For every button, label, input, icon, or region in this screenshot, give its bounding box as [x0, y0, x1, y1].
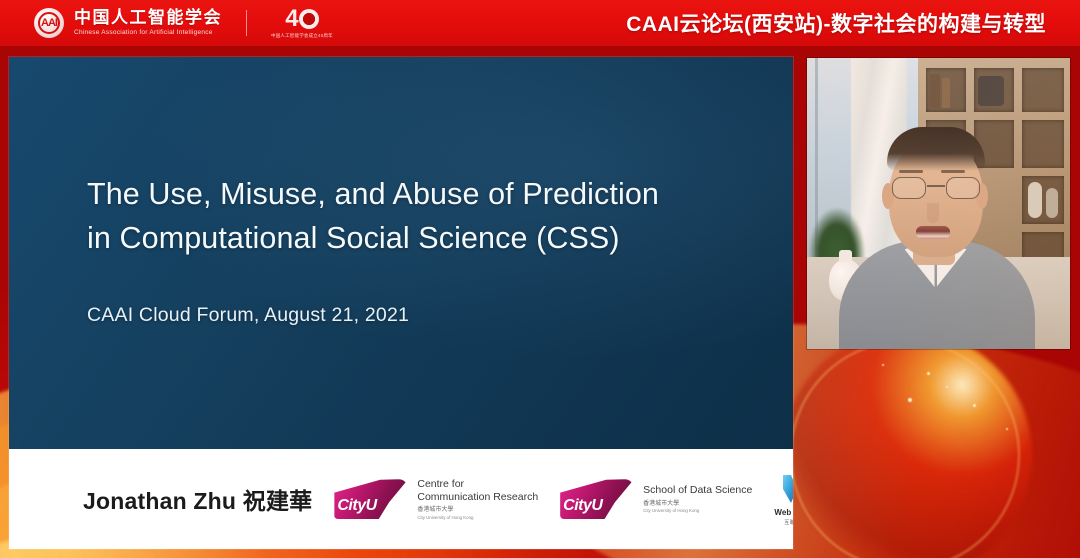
shelf-object	[978, 76, 1004, 106]
logo-text-block: School of Data Science 香港城市大學 City Unive…	[643, 484, 752, 513]
shelf-cell	[1022, 120, 1064, 168]
brand-divider	[246, 10, 247, 36]
speaker-hair	[887, 127, 985, 171]
sparkle-icon	[946, 386, 948, 388]
presenter-name: Jonathan Zhu 祝建華	[83, 482, 312, 516]
org-name-en: Chinese Association for Artificial Intel…	[74, 29, 222, 37]
caai-brand-lockup: AAI 中国人工智能学会 Chinese Association for Art…	[0, 7, 333, 39]
sparkle-icon	[908, 398, 912, 402]
vase	[1028, 182, 1042, 218]
eyeglass-bridge	[927, 185, 945, 187]
speaker-eyebrow-right	[941, 170, 965, 173]
vase	[1046, 188, 1058, 218]
speaker-nose	[927, 203, 939, 223]
logo-school-of-data-science: CityU School of Data Science 香港城市大學 City…	[560, 479, 752, 519]
eyeglass-lens-left	[892, 177, 926, 199]
logo-name-cn-en: City University of Hong Kong	[643, 508, 752, 514]
logo-centre-for-communication-research: CityU Centre for Communication Research …	[334, 478, 538, 521]
logo-name-line-2: Communication Research	[417, 491, 538, 504]
eyeglass-lens-right	[946, 177, 980, 199]
sparkle-icon	[882, 364, 884, 366]
anniversary-number: 4	[285, 7, 318, 31]
caai-logo-initials: AAI	[41, 17, 57, 29]
orb-ring	[790, 340, 1020, 558]
forum-title: CAAI云论坛(西安站)-数字社会的构建与转型	[626, 8, 1080, 38]
book	[930, 74, 940, 108]
slide-title-line-2: in Computational Social Science (CSS)	[87, 217, 687, 260]
logo-text-block: Centre for Communication Research 香港城市大學…	[417, 478, 538, 521]
shelf-cell	[1022, 68, 1064, 112]
logo-web-mining-lab: Web Mining Lab 互聯網挖掘實驗室	[774, 472, 793, 526]
slide-title-line-1: The Use, Misuse, and Abuse of Prediction	[87, 173, 687, 216]
slide-subtitle: CAAI Cloud Forum, August 21, 2021	[87, 304, 793, 327]
video-room-background	[807, 58, 1070, 349]
speaker-video-panel[interactable]	[807, 58, 1070, 349]
org-name-cn: 中国人工智能学会	[74, 9, 222, 28]
logo-name-line-1: Centre for	[417, 478, 538, 491]
slide-footer: Jonathan Zhu 祝建華 CityU Centre for Commun…	[9, 449, 793, 549]
logo-name-cn: 香港城市大學	[643, 501, 752, 509]
broadcast-header-bar: AAI 中国人工智能学会 Chinese Association for Art…	[0, 0, 1080, 46]
presentation-slide: The Use, Misuse, and Abuse of Prediction…	[9, 57, 793, 549]
anniversary-caption: 中国人工智能学会成立40周年	[271, 33, 333, 39]
cityu-logo-icon: CityU	[334, 479, 408, 519]
sparkle-icon	[1006, 428, 1008, 430]
web-mining-lab-name: Web Mining Lab	[774, 508, 793, 517]
eyeglasses-icon	[891, 177, 981, 199]
book	[942, 78, 950, 108]
slide-title: The Use, Misuse, and Abuse of Prediction…	[87, 173, 687, 260]
speaker-mouth	[916, 226, 950, 239]
anniversary-digit: 4	[285, 7, 297, 31]
caai-brand-text: 中国人工智能学会 Chinese Association for Artific…	[74, 9, 222, 36]
logo-name-line-1: School of Data Science	[643, 484, 752, 497]
sparkle-icon	[927, 372, 930, 375]
slide-body: The Use, Misuse, and Abuse of Prediction…	[9, 57, 793, 449]
anniversary-logo: 4 中国人工智能学会成立40周年	[271, 7, 333, 39]
caai-logo-icon: AAI	[34, 8, 64, 38]
logo-name-cn: 香港城市大學	[417, 507, 538, 515]
anniversary-zero-icon	[299, 9, 319, 29]
logo-name-cn-en: City University of Hong Kong	[417, 515, 538, 521]
web-mining-lab-icon	[780, 472, 793, 506]
broadcast-stage: AAI 中国人工智能学会 Chinese Association for Art…	[0, 0, 1080, 558]
cityu-logo-icon: CityU	[560, 479, 634, 519]
speaker-eyebrow-left	[899, 170, 923, 173]
sparkle-icon	[973, 404, 976, 407]
cityu-wordmark: CityU	[337, 498, 376, 514]
web-mining-lab-name-cn: 互聯網挖掘實驗室	[784, 519, 793, 526]
cityu-wordmark: CityU	[563, 498, 602, 514]
